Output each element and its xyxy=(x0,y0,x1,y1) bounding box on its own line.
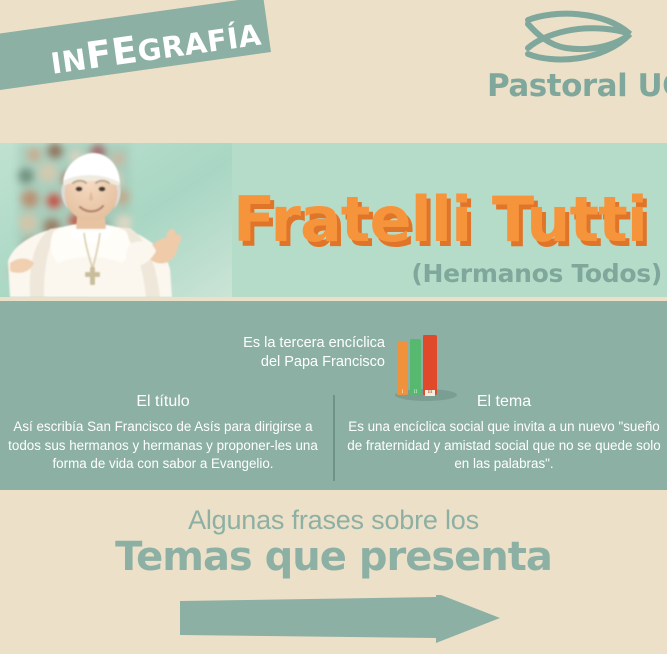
column-heading-titulo: El título xyxy=(4,393,322,411)
column-el-titulo: El título Así escribía San Francisco de … xyxy=(4,393,322,474)
ichthys-fish-icon xyxy=(508,8,638,66)
arrow-right-container xyxy=(180,595,500,643)
enciclica-line-2: del Papa Francisco xyxy=(170,353,385,372)
content-panel: Es la tercera encíclica del Papa Francis… xyxy=(0,301,667,490)
bottom-heading-line-1: Algunas frases sobre los xyxy=(0,505,667,536)
arrow-right-icon xyxy=(180,595,500,643)
books-illustration: I II III xyxy=(395,329,457,401)
pope-francis-photo xyxy=(0,143,232,297)
bottom-heading-line-2: Temas que presenta xyxy=(0,534,667,580)
infografia-rest: grafía xyxy=(135,18,263,69)
infographic-page: inFEgrafía Pastoral UC xyxy=(0,0,667,654)
pastoral-uc-logo: Pastoral UC xyxy=(473,8,667,104)
column-divider xyxy=(333,395,335,481)
hero-band: Fratelli Tutti (Hermanos Todos) xyxy=(0,143,667,297)
enciclica-row: Es la tercera encíclica del Papa Francis… xyxy=(0,331,667,401)
enciclica-line-1: Es la tercera encíclica xyxy=(170,334,385,353)
pastoral-uc-logo-text: Pastoral UC xyxy=(473,68,667,104)
book-spine-2 xyxy=(410,339,421,395)
book-spine-3 xyxy=(423,335,437,395)
page-subtitle: (Hermanos Todos) xyxy=(210,259,662,288)
column-heading-tema: El tema xyxy=(345,393,663,411)
column-body-titulo: Así escribía San Francisco de Asís para … xyxy=(4,418,322,474)
page-title: Fratelli Tutti xyxy=(210,189,667,251)
bottom-section: Algunas frases sobre los Temas que prese… xyxy=(0,490,667,654)
column-body-tema: Es una encíclica social que invita a un … xyxy=(345,418,663,474)
enciclica-caption: Es la tercera encíclica del Papa Francis… xyxy=(170,334,385,372)
header: inFEgrafía Pastoral UC xyxy=(0,0,667,143)
book-spine-1 xyxy=(397,341,408,395)
infografia-prefix: in xyxy=(49,42,89,81)
infografia-fe: FE xyxy=(83,28,140,78)
column-el-tema: El tema Es una encíclica social que invi… xyxy=(345,393,663,474)
